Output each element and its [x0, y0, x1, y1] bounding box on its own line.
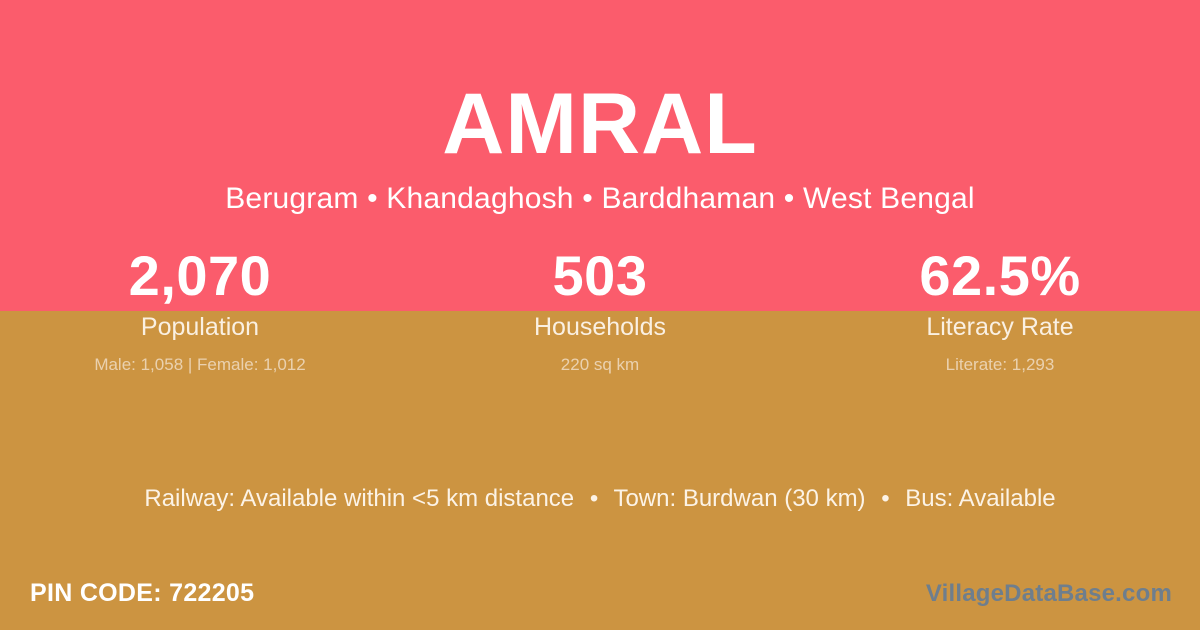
card-footer: PIN CODE: 722205 VillageDataBase.com: [0, 572, 1200, 630]
infrastructure-line: Railway: Available within <5 km distance…: [0, 483, 1200, 515]
infra-bus: Bus: Available: [905, 485, 1055, 512]
stat-literacy-rate: 62.5% Literacy Rate Literate: 1,293: [800, 243, 1200, 377]
stats-row: 2,070 Population Male: 1,058 | Female: 1…: [0, 243, 1200, 377]
village-info-card: AMRAL Berugram • Khandaghosh • Barddhama…: [0, 0, 1200, 630]
stat-population: 2,070 Population Male: 1,058 | Female: 1…: [0, 243, 400, 377]
stat-sublabel: 220 sq km: [400, 353, 800, 377]
pin-code: PIN CODE: 722205: [30, 576, 254, 610]
card-content: AMRAL Berugram • Khandaghosh • Barddhama…: [0, 0, 1200, 630]
infra-separator-1: •: [581, 483, 607, 515]
stat-value: 2,070: [0, 243, 400, 309]
stat-value: 503: [400, 243, 800, 309]
stat-households: 503 Households 220 sq km: [400, 243, 800, 377]
page-title: AMRAL: [0, 78, 1200, 170]
breadcrumb: Berugram • Khandaghosh • Barddhaman • We…: [0, 180, 1200, 218]
brand-watermark: VillageDataBase.com: [926, 578, 1172, 610]
infra-town: Town: Burdwan (30 km): [613, 485, 865, 512]
stat-label: Households: [400, 311, 800, 344]
infra-railway: Railway: Available within <5 km distance: [144, 485, 574, 512]
stat-sublabel: Male: 1,058 | Female: 1,012: [0, 353, 400, 377]
infra-separator-2: •: [872, 483, 898, 515]
stat-sublabel: Literate: 1,293: [800, 353, 1200, 377]
stat-value: 62.5%: [800, 243, 1200, 309]
stat-label: Population: [0, 311, 400, 344]
stat-label: Literacy Rate: [800, 311, 1200, 344]
